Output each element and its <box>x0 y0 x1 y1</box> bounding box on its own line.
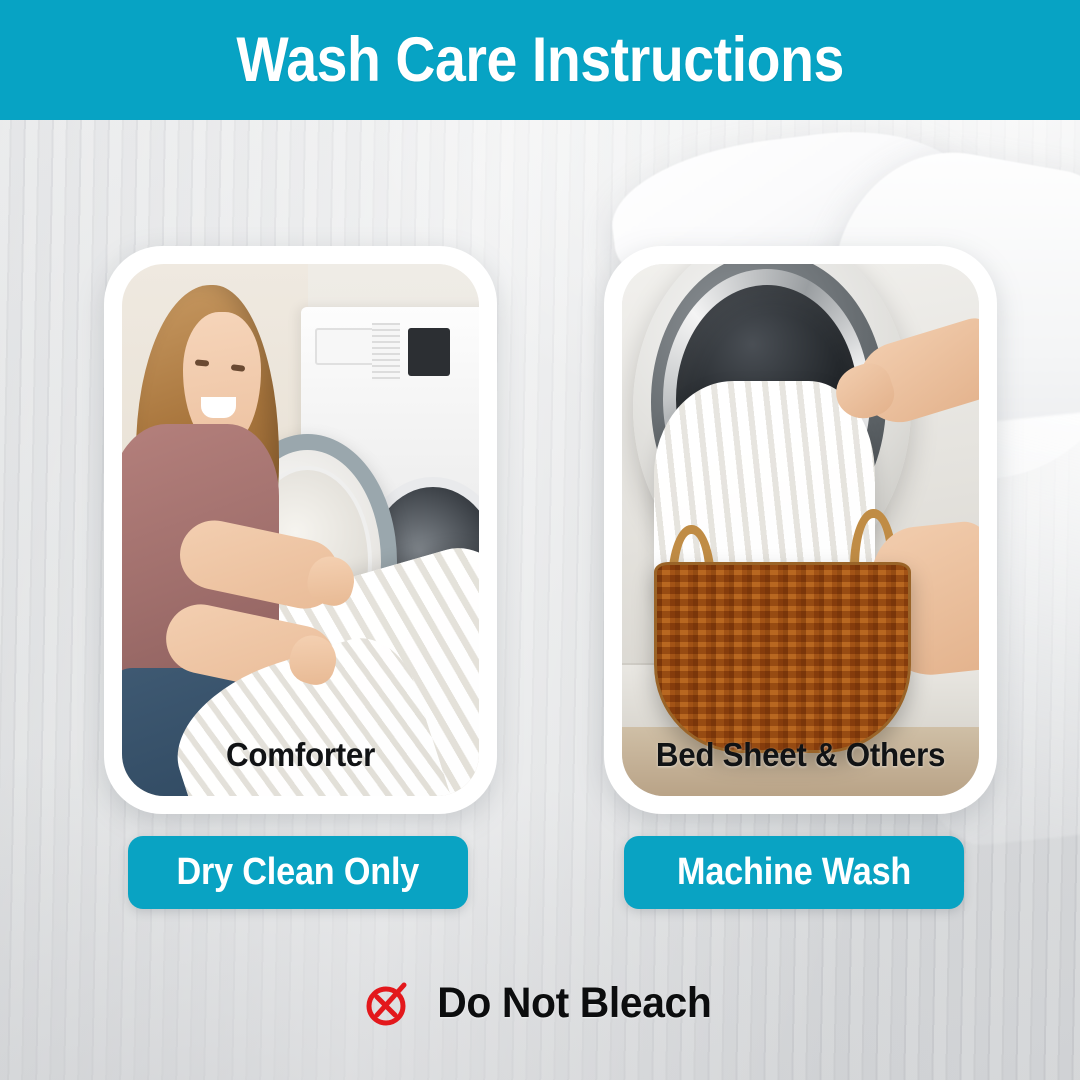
card-caption-bed-sheet: Bed Sheet & Others <box>631 736 970 774</box>
machine-display-screen <box>408 328 451 376</box>
card-comforter[interactable]: Comforter <box>104 246 497 814</box>
dry-clean-only-label: Dry Clean Only <box>177 851 420 894</box>
dry-clean-only-button[interactable]: Dry Clean Only <box>128 836 468 909</box>
machine-wash-button[interactable]: Machine Wash <box>624 836 964 909</box>
card-caption-comforter: Comforter <box>131 736 470 774</box>
wicker-laundry-basket <box>654 562 911 754</box>
comforter-photo: Comforter <box>122 264 479 796</box>
woman-eye-left <box>195 359 210 367</box>
card-bed-sheet[interactable]: Bed Sheet & Others <box>604 246 997 814</box>
do-not-bleach-icon <box>362 977 414 1029</box>
do-not-bleach-notice: Do Not Bleach <box>0 968 1080 1038</box>
page-title: Wash Care Instructions <box>236 24 843 96</box>
header-banner: Wash Care Instructions <box>0 0 1080 120</box>
bed-sheet-photo: Bed Sheet & Others <box>622 264 979 796</box>
machine-vents <box>372 323 401 382</box>
do-not-bleach-label: Do Not Bleach <box>437 979 711 1028</box>
machine-wash-label: Machine Wash <box>677 851 911 894</box>
woman-smile <box>201 397 237 418</box>
